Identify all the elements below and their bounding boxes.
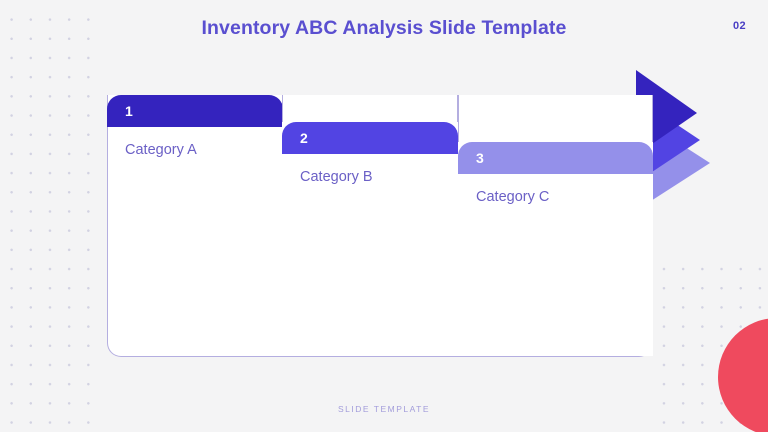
card-1-header: 1	[107, 95, 283, 127]
card-2-number: 2	[300, 130, 308, 146]
category-card-3[interactable]: 3 Category C	[458, 95, 653, 357]
page-title: Inventory ABC Analysis Slide Template	[0, 17, 768, 40]
dot-grid-mask-top	[0, 0, 768, 8]
category-card-group: 1 Category A 2 Category B 3 Category C	[107, 95, 653, 357]
card-3-number: 3	[476, 150, 484, 166]
card-2-label: Category B	[300, 169, 373, 185]
card-1-label: Category A	[125, 142, 197, 158]
card-3-body-fill	[458, 142, 653, 356]
category-card-1[interactable]: 1 Category A	[107, 95, 283, 357]
card-2-header: 2	[282, 122, 458, 154]
category-card-2[interactable]: 2 Category B	[282, 95, 458, 357]
page-number: 02	[733, 20, 746, 32]
card-1-number: 1	[125, 103, 133, 119]
card-2-body-fill	[282, 122, 458, 356]
footer-label: SLIDE TEMPLATE	[0, 404, 768, 414]
card-3-label: Category C	[476, 189, 549, 205]
card-3-header: 3	[458, 142, 653, 174]
